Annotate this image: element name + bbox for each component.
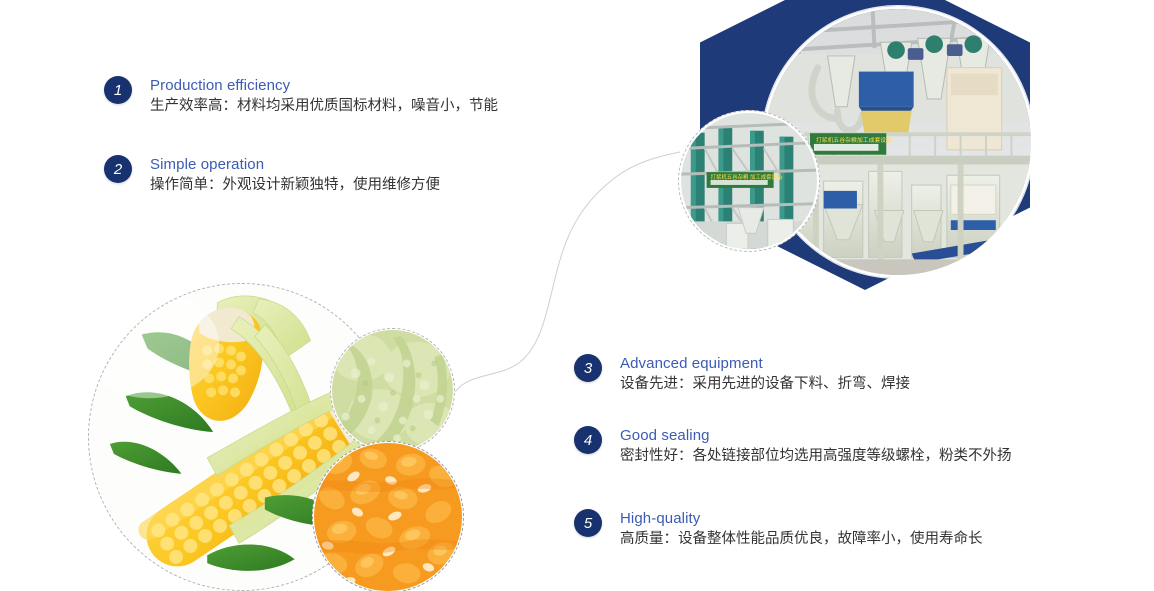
feature-body-1: 生产效率高：材料均采用优质国标材料，噪音小，节能 [150, 96, 498, 117]
svg-text:打浆机五谷杂粮加工成套设备: 打浆机五谷杂粮加工成套设备 [816, 136, 892, 144]
feature-item-5[interactable]: 5 High-quality 高质量：设备整体性能品质优良，故障率小，使用寿命长 [574, 509, 983, 550]
feature-item-1[interactable]: 1 Production efficiency 生产效率高：材料均采用优质国标材… [104, 76, 498, 117]
photo-corn-grits-green [330, 328, 455, 453]
feature-heading-4: Good sealing [620, 426, 1012, 445]
feature-badge-3: 3 [574, 354, 602, 382]
svg-text:打浆机五谷杂粮 加工成套设备: 打浆机五谷杂粮 加工成套设备 [711, 173, 783, 181]
photo-corn-kernels [312, 441, 464, 591]
feature-body-3: 设备先进：采用先进的设备下料、折弯、焊接 [620, 374, 910, 395]
feature-text-3: Advanced equipment 设备先进：采用先进的设备下料、折弯、焊接 [620, 354, 910, 395]
feature-heading-2: Simple operation [150, 155, 440, 174]
feature-badge-2: 2 [104, 155, 132, 183]
feature-body-5: 高质量：设备整体性能品质优良，故障率小，使用寿命长 [620, 529, 983, 550]
feature-text-5: High-quality 高质量：设备整体性能品质优良，故障率小，使用寿命长 [620, 509, 983, 550]
feature-item-3[interactable]: 3 Advanced equipment 设备先进：采用先进的设备下料、折弯、焊… [574, 354, 910, 395]
photo-mill-equipment: 打浆机五谷杂粮 加工成套设备 [678, 110, 820, 252]
feature-body-4: 密封性好：各处链接部位均选用高强度等级螺栓，粉类不外扬 [620, 446, 1012, 467]
feature-heading-3: Advanced equipment [620, 354, 910, 373]
feature-badge-4: 4 [574, 426, 602, 454]
feature-text-4: Good sealing 密封性好：各处链接部位均选用高强度等级螺栓，粉类不外扬 [620, 426, 1012, 467]
feature-item-4[interactable]: 4 Good sealing 密封性好：各处链接部位均选用高强度等级螺栓，粉类不… [574, 426, 1012, 467]
feature-text-2: Simple operation 操作简单：外观设计新颖独特，使用维修方便 [150, 155, 440, 196]
feature-heading-1: Production efficiency [150, 76, 498, 95]
feature-heading-5: High-quality [620, 509, 983, 528]
infographic-stage: 打浆机五谷杂粮加工成套设备 [0, 0, 1154, 591]
feature-badge-5: 5 [574, 509, 602, 537]
feature-body-2: 操作简单：外观设计新颖独特，使用维修方便 [150, 175, 440, 196]
feature-badge-1: 1 [104, 76, 132, 104]
feature-item-2[interactable]: 2 Simple operation 操作简单：外观设计新颖独特，使用维修方便 [104, 155, 440, 196]
feature-text-1: Production efficiency 生产效率高：材料均采用优质国标材料，… [150, 76, 498, 117]
